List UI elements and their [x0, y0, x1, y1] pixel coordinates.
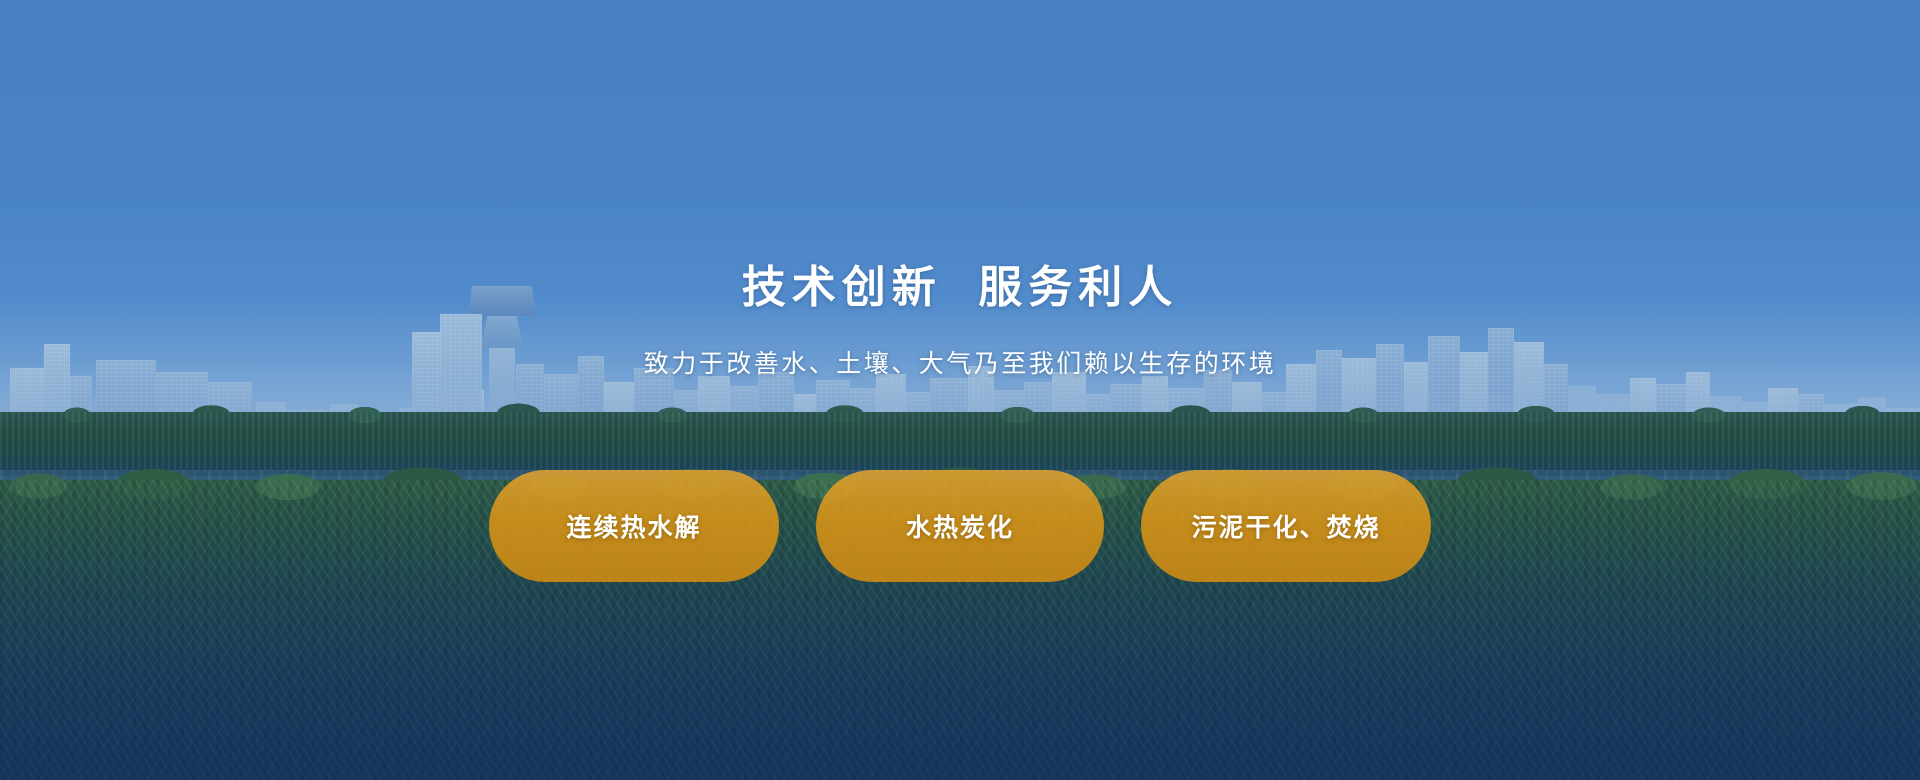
hero-button-hydrothermal-carbonization[interactable]: 水热炭化 [816, 470, 1104, 582]
hero-button-continuous-thermal-hydrolysis[interactable]: 连续热水解 [489, 470, 779, 582]
hero-button-label: 连续热水解 [566, 508, 701, 544]
hero-button-row: 连续热水解 水热炭化 污泥干化、焚烧 [0, 470, 1920, 582]
hero-banner: 技术创新 服务利人 致力于改善水、土壤、大气乃至我们赖以生存的环境 连续热水解 … [0, 0, 1920, 780]
hero-button-sludge-drying-incineration[interactable]: 污泥干化、焚烧 [1141, 470, 1431, 582]
hero-subtitle: 致力于改善水、土壤、大气乃至我们赖以生存的环境 [0, 344, 1920, 380]
hero-button-label: 污泥干化、焚烧 [1191, 508, 1380, 544]
hero-button-label: 水热炭化 [906, 508, 1014, 544]
page-title: 技术创新 服务利人 [0, 262, 1920, 315]
